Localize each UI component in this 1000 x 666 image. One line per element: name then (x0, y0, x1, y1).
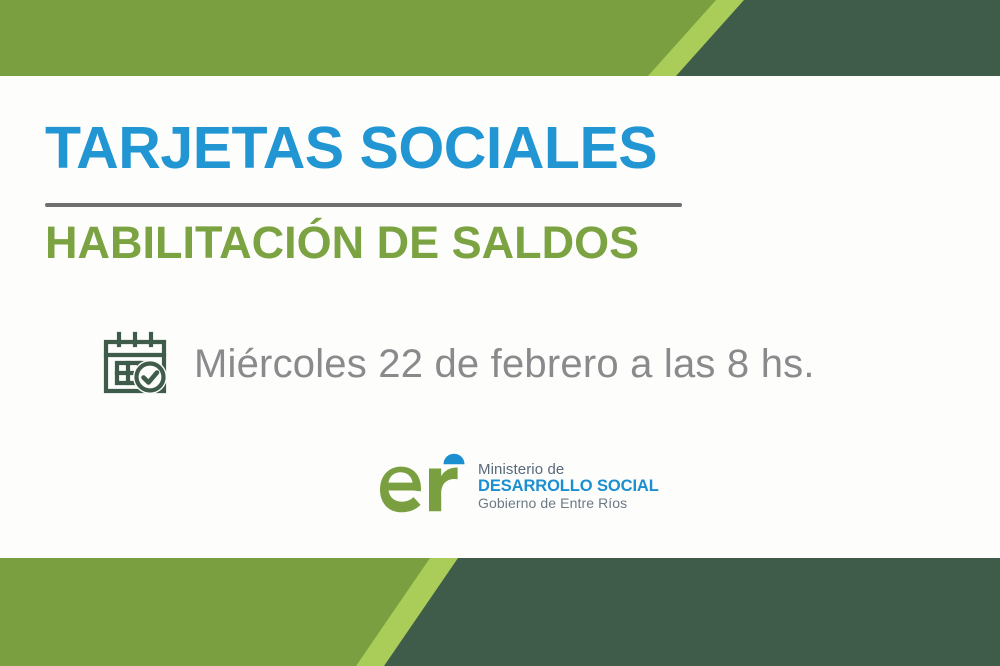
page-title: TARJETAS SOCIALES (45, 118, 657, 180)
bottom-banner (0, 558, 1000, 666)
date-row: Miércoles 22 de febrero a las 8 hs. (98, 325, 815, 404)
logo-line-gobierno: Gobierno de Entre Ríos (478, 496, 659, 511)
logo-line-desarrollo-social: DESARROLLO SOCIAL (478, 478, 659, 495)
calendar-check-icon (98, 325, 172, 404)
poster-canvas: TARJETAS SOCIALES HABILITACIÓN DE SALDOS (0, 0, 1000, 666)
logo-line-ministerio: Ministerio de (478, 462, 659, 478)
logo-text-block: Ministerio de DESARROLLO SOCIAL Gobierno… (478, 462, 659, 510)
event-date-text: Miércoles 22 de febrero a las 8 hs. (194, 342, 815, 387)
er-monogram-icon (374, 446, 470, 527)
ministry-logo: Ministerio de DESARROLLO SOCIAL Gobierno… (374, 446, 659, 527)
top-banner (0, 0, 1000, 76)
title-divider (45, 203, 682, 207)
page-subtitle: HABILITACIÓN DE SALDOS (45, 218, 639, 268)
